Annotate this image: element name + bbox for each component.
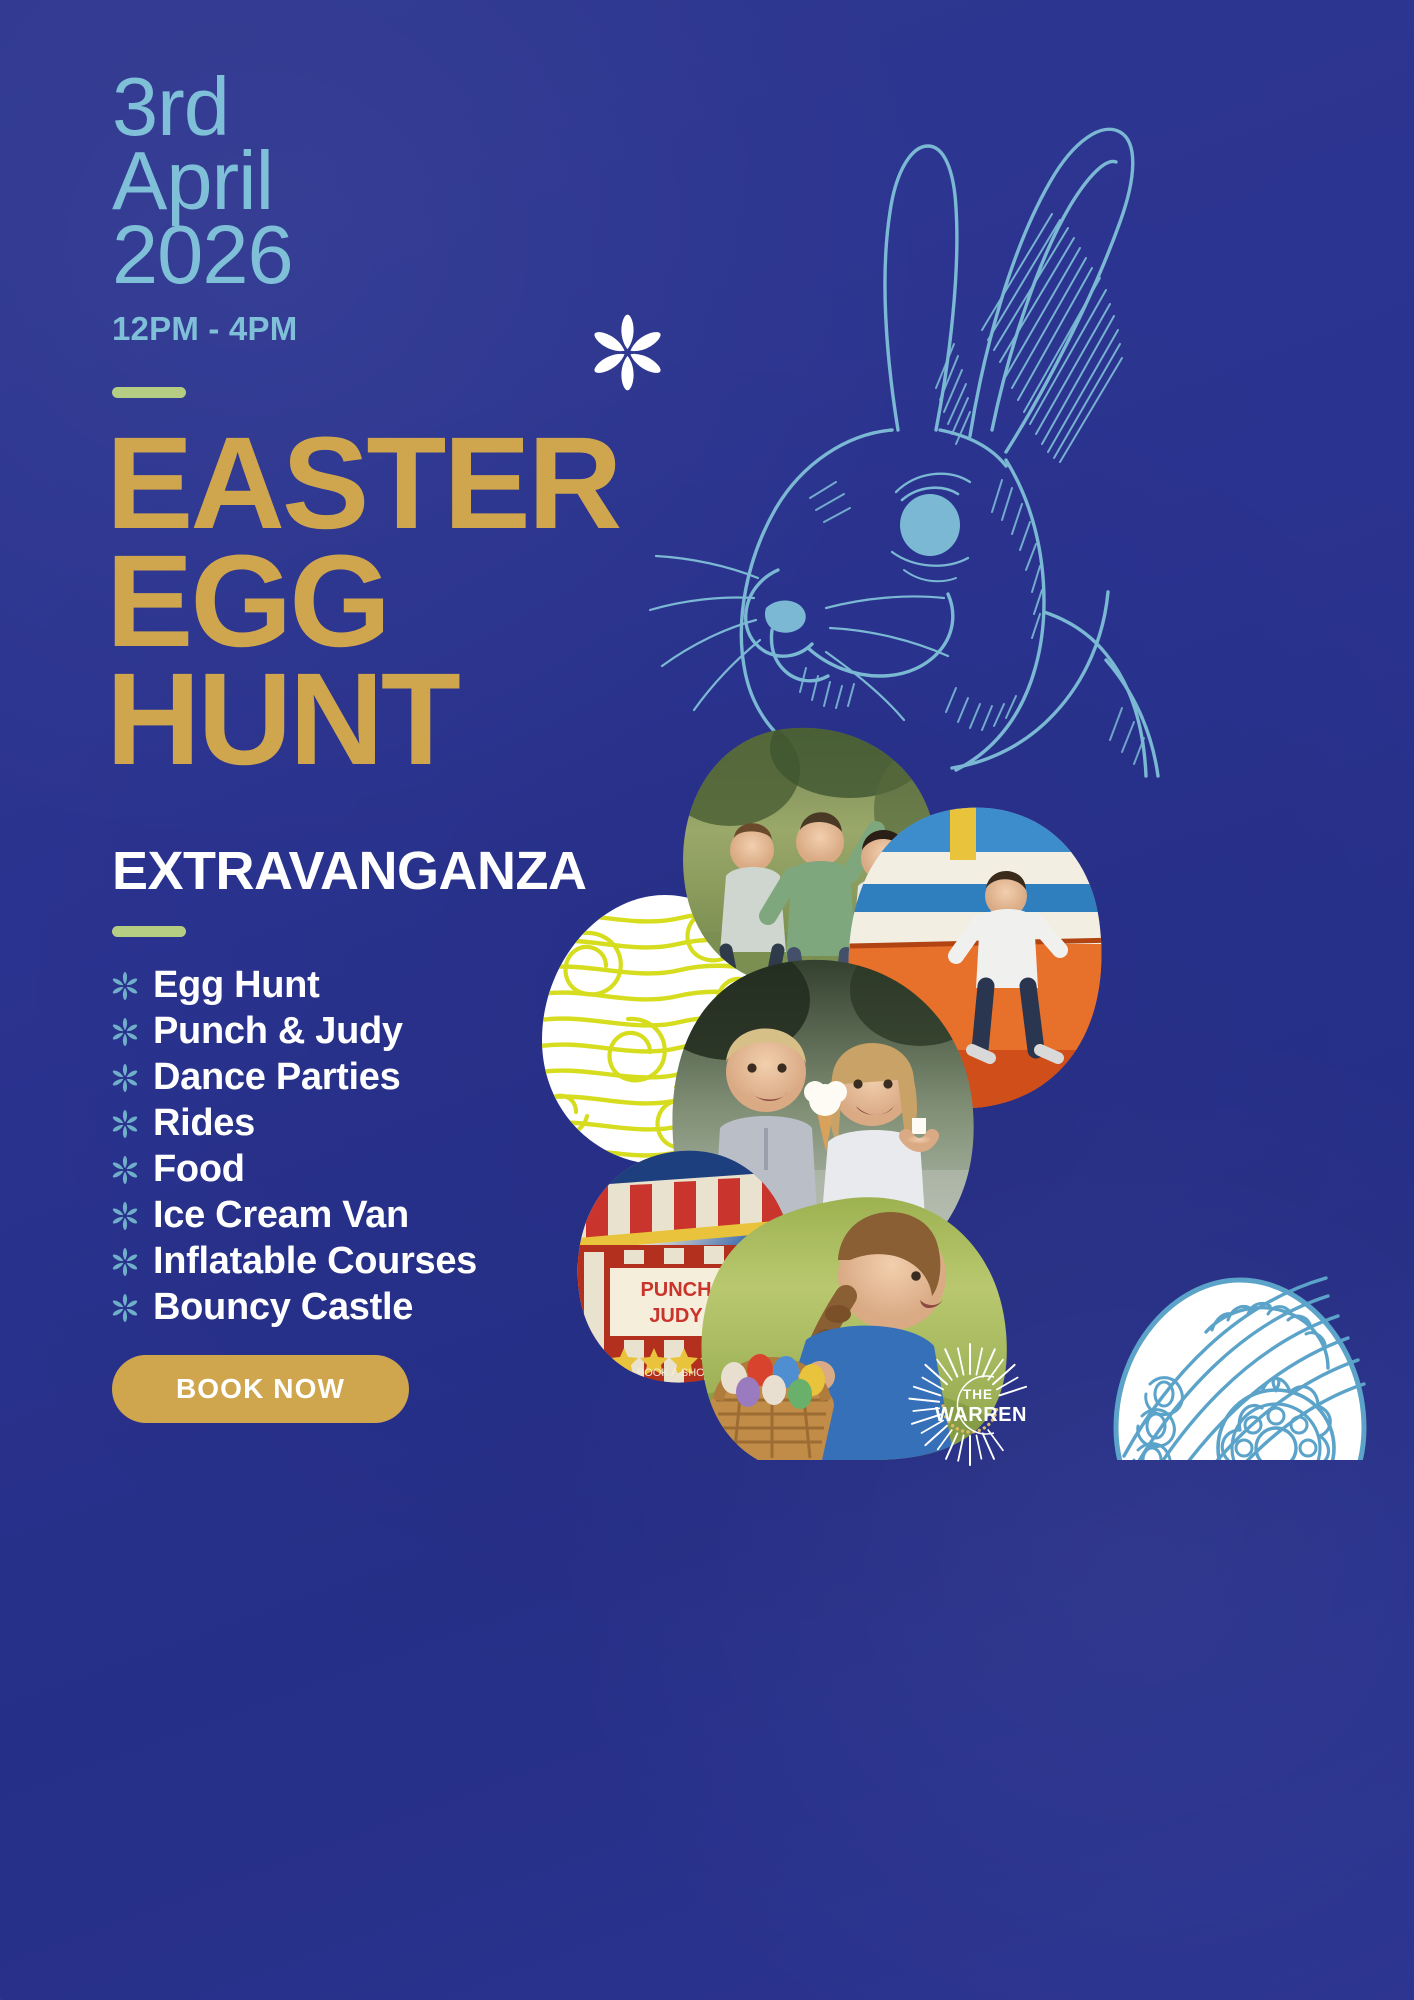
decorated-egg-mandala-icon <box>1116 1278 1364 1460</box>
feature-list: Egg Hunt Punch & Judy Dance Parties Ride… <box>108 963 477 1331</box>
list-item: Inflatable Courses <box>108 1239 477 1284</box>
six-petal-flower-icon <box>580 310 675 395</box>
headline-line-1: EASTER <box>106 424 619 542</box>
event-time: 12PM - 4PM <box>112 310 297 348</box>
date-line-2: April <box>112 144 297 218</box>
event-date-block: 3rd April 2026 12PM - 4PM <box>112 70 297 348</box>
headline-line-3: HUNT <box>106 660 619 778</box>
asterisk-flower-icon <box>108 1109 142 1139</box>
the-warren-logo: THE WARREN <box>905 1340 1035 1470</box>
feature-label: Dance Parties <box>153 1056 400 1099</box>
divider-rule-bottom <box>112 926 186 937</box>
logo-line-1: THE <box>963 1387 993 1402</box>
subheadline: EXTRAVANGANZA <box>112 840 587 902</box>
list-item: Egg Hunt <box>108 963 477 1008</box>
feature-label: Inflatable Courses <box>153 1240 477 1283</box>
page-title: EASTER EGG HUNT <box>106 424 619 778</box>
asterisk-flower-icon <box>108 1155 142 1185</box>
date-line-1: 3rd <box>112 70 297 144</box>
asterisk-flower-icon <box>108 1063 142 1093</box>
date-line-3: 2026 <box>112 218 297 292</box>
list-item: Dance Parties <box>108 1055 477 1100</box>
headline-line-2: EGG <box>106 542 619 660</box>
asterisk-flower-icon <box>108 1247 142 1277</box>
feature-label: Food <box>153 1148 245 1191</box>
list-item: Punch & Judy <box>108 1009 477 1054</box>
asterisk-flower-icon <box>108 1293 142 1323</box>
svg-text:PUNCH: PUNCH <box>640 1279 711 1301</box>
list-item: Ice Cream Van <box>108 1193 477 1238</box>
feature-label: Egg Hunt <box>153 964 319 1007</box>
list-item: Bouncy Castle <box>108 1285 477 1330</box>
feature-label: Punch & Judy <box>153 1010 403 1053</box>
svg-text:JUDY: JUDY <box>649 1305 703 1327</box>
logo-line-2: WARREN <box>935 1404 1027 1426</box>
asterisk-flower-icon <box>108 1017 142 1047</box>
divider-rule-top <box>112 387 186 398</box>
asterisk-flower-icon <box>108 1201 142 1231</box>
rabbit-line-art-icon <box>640 100 1260 780</box>
feature-label: Ice Cream Van <box>153 1194 409 1237</box>
feature-label: Rides <box>153 1102 255 1145</box>
list-item: Rides <box>108 1101 477 1146</box>
feature-label: Bouncy Castle <box>153 1286 413 1329</box>
asterisk-flower-icon <box>108 971 142 1001</box>
list-item: Food <box>108 1147 477 1192</box>
poster-canvas: PUNCH JUDY BOOK A SHOW <box>0 0 1414 2000</box>
book-now-button[interactable]: BOOK NOW <box>112 1355 409 1423</box>
